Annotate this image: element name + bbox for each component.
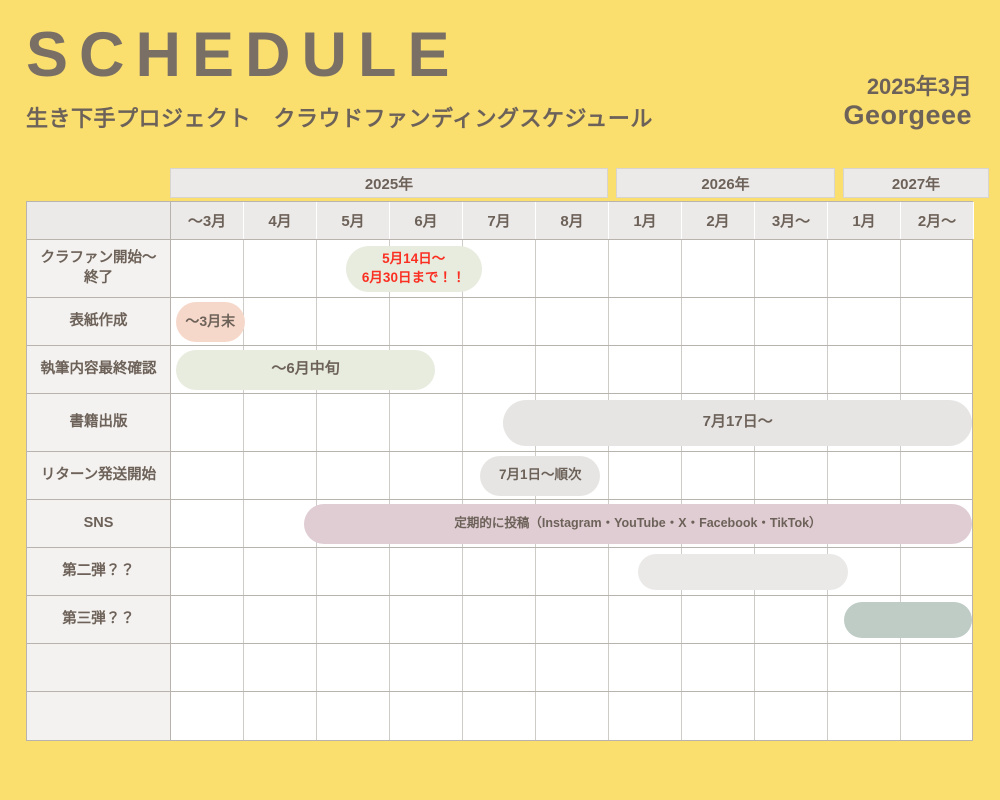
grid-cell[interactable]	[244, 394, 317, 451]
grid-cell[interactable]	[682, 240, 755, 297]
grid-cell[interactable]	[390, 596, 463, 643]
year-header-spacer	[26, 168, 170, 198]
third-edition-bar[interactable]	[844, 602, 972, 638]
month-header-cell-3: 6月	[390, 202, 463, 239]
row-label-8	[27, 644, 171, 691]
grid-cell[interactable]	[682, 596, 755, 643]
month-header-cell-2: 5月	[317, 202, 390, 239]
year-header-gap	[835, 168, 843, 198]
sns-posting-bar[interactable]: 定期的に投稿（Instagram・YouTube・X・Facebook・TikT…	[304, 504, 972, 544]
grid-cell[interactable]	[682, 298, 755, 345]
row-cells	[171, 692, 974, 740]
grid-cell[interactable]	[755, 596, 828, 643]
month-header-row: 〜3月4月5月6月7月8月1月2月3月〜1月2月〜	[27, 202, 972, 240]
table-row: リターン発送開始7月1日〜順次	[27, 452, 972, 500]
grid-cell[interactable]	[171, 240, 244, 297]
title-block: SCHEDULE 生き下手プロジェクト クラウドファンディングスケジュール	[26, 24, 653, 133]
grid-cell[interactable]	[901, 644, 974, 691]
grid-cell[interactable]	[609, 298, 682, 345]
row-cells	[171, 298, 974, 345]
year-header-2027年: 2027年	[843, 168, 989, 198]
table-row: クラファン開始〜 終了5月14日〜 6月30日まで！！	[27, 240, 972, 298]
grid-cell[interactable]	[244, 452, 317, 499]
grid-cell[interactable]	[609, 346, 682, 393]
month-header-cell-5: 8月	[536, 202, 609, 239]
grid-cell[interactable]	[463, 644, 536, 691]
grid-cell[interactable]	[901, 346, 974, 393]
grid-cell[interactable]	[609, 644, 682, 691]
year-header-row: 2025年2026年2027年	[26, 168, 973, 198]
grid-cell[interactable]	[171, 692, 244, 740]
grid-cell[interactable]	[244, 240, 317, 297]
table-row	[27, 644, 972, 692]
row-cells	[171, 548, 974, 595]
grid-cell[interactable]	[390, 394, 463, 451]
month-header-cell-1: 4月	[244, 202, 317, 239]
table-row	[27, 692, 972, 740]
return-shipping-bar[interactable]: 7月1日〜順次	[480, 456, 600, 496]
grid-cell[interactable]	[828, 644, 901, 691]
row-cells	[171, 240, 974, 297]
row-label-1: 表紙作成	[27, 298, 171, 345]
cover-creation-bar[interactable]: 〜3月末	[176, 302, 245, 342]
grid-cell[interactable]	[317, 298, 390, 345]
grid-cell[interactable]	[317, 452, 390, 499]
table-row: 第二弾？？	[27, 548, 972, 596]
grid-cell[interactable]	[536, 596, 609, 643]
grid-cell[interactable]	[609, 452, 682, 499]
row-label-2: 執筆内容最終確認	[27, 346, 171, 393]
grid-cell[interactable]	[755, 346, 828, 393]
row-label-7: 第三弾？？	[27, 596, 171, 643]
grid-cell[interactable]	[901, 240, 974, 297]
grid-cell[interactable]	[171, 644, 244, 691]
grid-cell[interactable]	[317, 596, 390, 643]
grid-cell[interactable]	[755, 240, 828, 297]
grid-cell[interactable]	[682, 644, 755, 691]
crowdfunding-period-bar[interactable]: 5月14日〜 6月30日まで！！	[346, 246, 482, 292]
schedule-table: 2025年2026年2027年 〜3月4月5月6月7月8月1月2月3月〜1月2月…	[26, 168, 973, 741]
grid-cell[interactable]	[828, 240, 901, 297]
grid-cell[interactable]	[536, 346, 609, 393]
document-date: 2025年3月	[843, 74, 972, 99]
grid-cell[interactable]	[901, 548, 974, 595]
year-header-2025年: 2025年	[170, 168, 608, 198]
grid-cell[interactable]	[317, 548, 390, 595]
grid-cell[interactable]	[463, 692, 536, 740]
grid-cell[interactable]	[244, 644, 317, 691]
grid-cell[interactable]	[244, 548, 317, 595]
grid-cell[interactable]	[536, 644, 609, 691]
grid-cell[interactable]	[463, 548, 536, 595]
grid-cell[interactable]	[536, 692, 609, 740]
grid-cell[interactable]	[901, 692, 974, 740]
month-header-cell-4: 7月	[463, 202, 536, 239]
grid-cell[interactable]	[901, 452, 974, 499]
grid-cell[interactable]	[828, 452, 901, 499]
table-row: SNS定期的に投稿（Instagram・YouTube・X・Facebook・T…	[27, 500, 972, 548]
grid-cell[interactable]	[244, 692, 317, 740]
row-label-5: SNS	[27, 500, 171, 547]
grid-cell[interactable]	[682, 346, 755, 393]
row-label-9	[27, 692, 171, 740]
grid-cell[interactable]	[755, 644, 828, 691]
grid-cell[interactable]	[171, 394, 244, 451]
grid-cell[interactable]	[901, 298, 974, 345]
page-title: SCHEDULE	[26, 24, 653, 87]
manuscript-final-check-bar[interactable]: 〜6月中旬	[176, 350, 436, 390]
grid-cell[interactable]	[755, 692, 828, 740]
grid-cell[interactable]	[755, 452, 828, 499]
month-header-corner	[27, 202, 171, 239]
grid-cell[interactable]	[536, 548, 609, 595]
month-header-cell-10: 2月〜	[901, 202, 974, 239]
table-row: 書籍出版7月17日〜	[27, 394, 972, 452]
schedule-grid: 〜3月4月5月6月7月8月1月2月3月〜1月2月〜 クラファン開始〜 終了5月1…	[26, 201, 973, 741]
grid-cell[interactable]	[390, 548, 463, 595]
page-subtitle: 生き下手プロジェクト クラウドファンディングスケジュール	[26, 101, 653, 133]
table-row: 執筆内容最終確認〜6月中旬	[27, 346, 972, 394]
table-row: 表紙作成〜3月末	[27, 298, 972, 346]
grid-cell[interactable]	[609, 596, 682, 643]
grid-cell[interactable]	[828, 692, 901, 740]
grid-cell[interactable]	[828, 298, 901, 345]
second-edition-bar[interactable]	[638, 554, 848, 590]
grid-cell[interactable]	[171, 548, 244, 595]
grid-cell[interactable]	[463, 298, 536, 345]
grid-cell[interactable]	[682, 692, 755, 740]
year-header-gap	[608, 168, 616, 198]
month-header-cell-7: 2月	[682, 202, 755, 239]
meta-block: 2025年3月 Georgeee	[843, 74, 972, 132]
grid-cell[interactable]	[390, 452, 463, 499]
grid-cell[interactable]	[244, 298, 317, 345]
row-label-3: 書籍出版	[27, 394, 171, 451]
row-cells	[171, 644, 974, 691]
month-header-cell-8: 3月〜	[755, 202, 828, 239]
document-author: Georgeee	[843, 99, 972, 131]
grid-cell[interactable]	[171, 452, 244, 499]
month-header-cells: 〜3月4月5月6月7月8月1月2月3月〜1月2月〜	[171, 202, 974, 239]
month-header-cell-9: 1月	[828, 202, 901, 239]
row-label-4: リターン発送開始	[27, 452, 171, 499]
month-header-cell-0: 〜3月	[171, 202, 244, 239]
grid-cell[interactable]	[390, 298, 463, 345]
grid-cell[interactable]	[463, 346, 536, 393]
grid-cell[interactable]	[536, 298, 609, 345]
grid-cell[interactable]	[390, 692, 463, 740]
grid-cell[interactable]	[171, 596, 244, 643]
grid-cell[interactable]	[317, 394, 390, 451]
page-header: SCHEDULE 生き下手プロジェクト クラウドファンディングスケジュール 20…	[0, 0, 1000, 168]
grid-cell[interactable]	[463, 596, 536, 643]
grid-cell[interactable]	[609, 692, 682, 740]
row-label-6: 第二弾？？	[27, 548, 171, 595]
grid-cell[interactable]	[682, 452, 755, 499]
row-label-0: クラファン開始〜 終了	[27, 240, 171, 297]
table-row: 第三弾？？	[27, 596, 972, 644]
grid-cell[interactable]	[244, 596, 317, 643]
grid-cell[interactable]	[609, 240, 682, 297]
book-publication-bar[interactable]: 7月17日〜	[503, 400, 972, 446]
grid-cell[interactable]	[536, 240, 609, 297]
grid-cell[interactable]	[755, 298, 828, 345]
grid-cell[interactable]	[317, 644, 390, 691]
grid-cell[interactable]	[390, 644, 463, 691]
month-header-cell-6: 1月	[609, 202, 682, 239]
year-header-2026年: 2026年	[616, 168, 835, 198]
grid-cell[interactable]	[171, 500, 244, 547]
grid-cell[interactable]	[317, 692, 390, 740]
grid-cell[interactable]	[828, 346, 901, 393]
